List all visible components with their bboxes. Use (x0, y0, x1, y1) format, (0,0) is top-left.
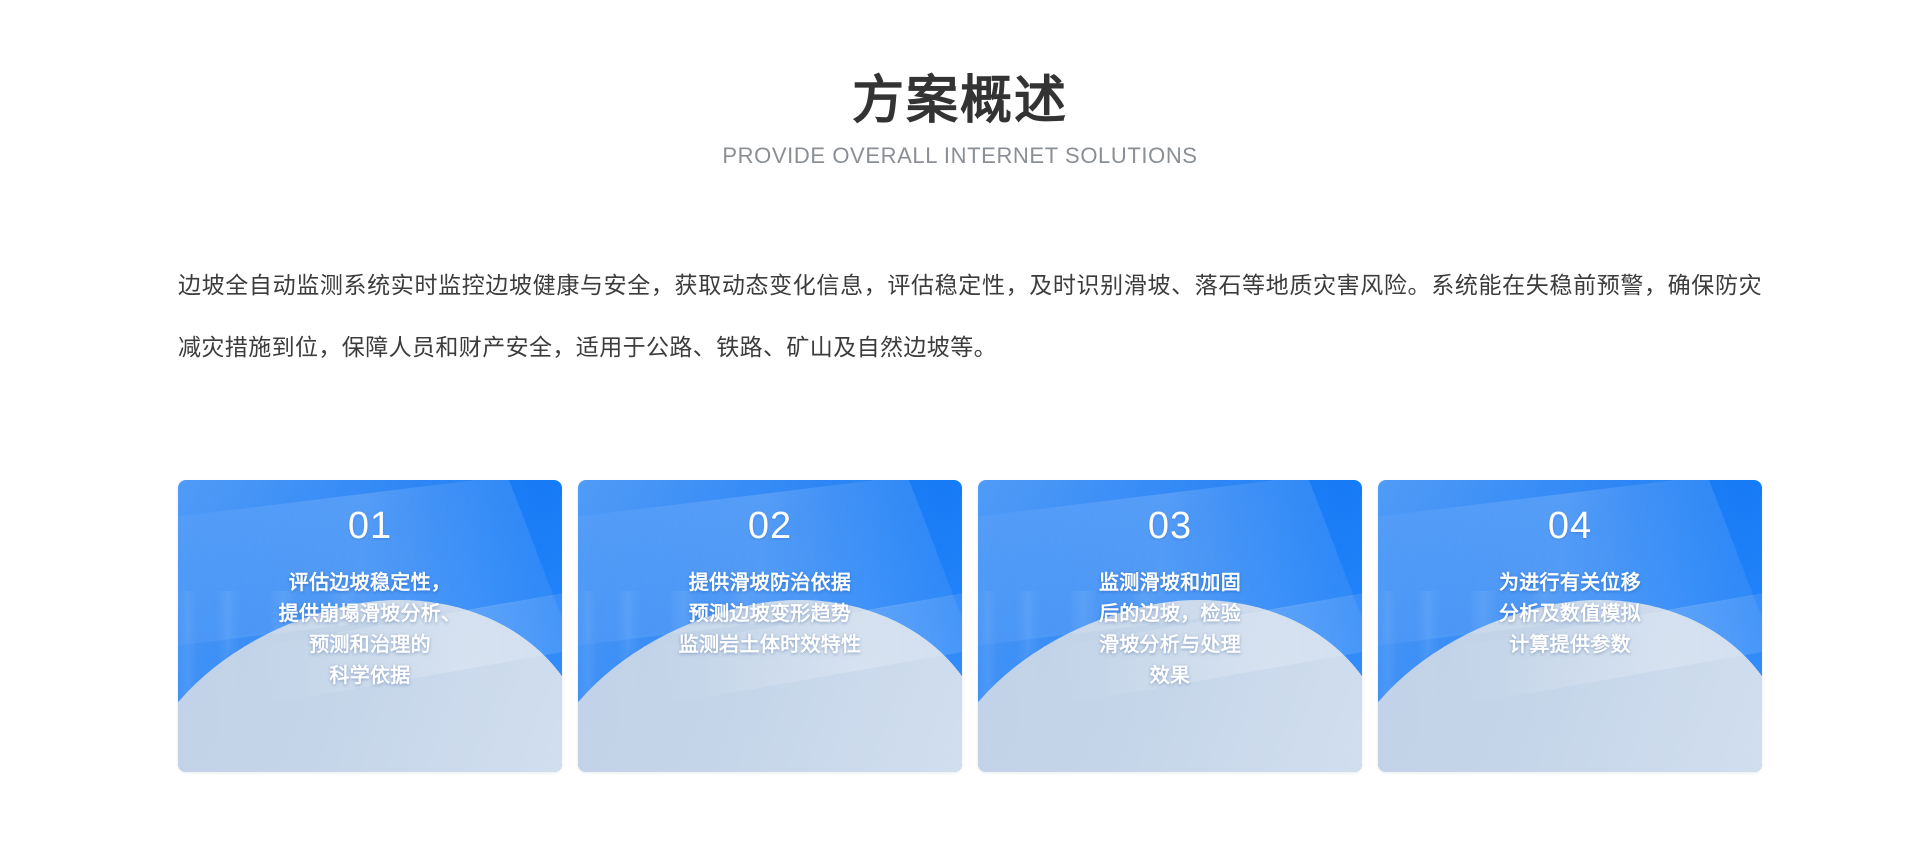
card-description: 监测滑坡和加固 后的边坡，检验 滑坡分析与处理 效果 (1085, 568, 1255, 692)
card-description: 提供滑坡防治依据 预测边坡变形趋势 监测岩土体时效特性 (665, 568, 876, 661)
feature-card[interactable]: 02 提供滑坡防治依据 预测边坡变形趋势 监测岩土体时效特性 (578, 480, 962, 772)
card-number: 04 (1548, 506, 1592, 548)
card-content: 03 监测滑坡和加固 后的边坡，检验 滑坡分析与处理 效果 (978, 480, 1362, 772)
section-header: 方案概述 PROVIDE OVERALL INTERNET SOLUTIONS (0, 72, 1920, 169)
card-number: 01 (348, 506, 392, 548)
page-title: 方案概述 (0, 72, 1920, 130)
feature-card[interactable]: 03 监测滑坡和加固 后的边坡，检验 滑坡分析与处理 效果 (978, 480, 1362, 772)
card-content: 04 为进行有关位移 分析及数值模拟 计算提供参数 (1378, 480, 1762, 772)
card-content: 01 评估边坡稳定性， 提供崩塌滑坡分析、 预测和治理的 科学依据 (178, 480, 562, 772)
card-number: 02 (748, 506, 792, 548)
slide-root: 方案概述 PROVIDE OVERALL INTERNET SOLUTIONS … (0, 0, 1920, 858)
card-content: 02 提供滑坡防治依据 预测边坡变形趋势 监测岩土体时效特性 (578, 480, 962, 772)
feature-card[interactable]: 01 评估边坡稳定性， 提供崩塌滑坡分析、 预测和治理的 科学依据 (178, 480, 562, 772)
card-description: 评估边坡稳定性， 提供崩塌滑坡分析、 预测和治理的 科学依据 (265, 568, 476, 692)
card-description: 为进行有关位移 分析及数值模拟 计算提供参数 (1485, 568, 1655, 661)
page-subtitle: PROVIDE OVERALL INTERNET SOLUTIONS (0, 143, 1920, 169)
feature-card-list: 01 评估边坡稳定性， 提供崩塌滑坡分析、 预测和治理的 科学依据 02 提供滑… (178, 480, 1762, 772)
card-number: 03 (1148, 506, 1192, 548)
feature-card[interactable]: 04 为进行有关位移 分析及数值模拟 计算提供参数 (1378, 480, 1762, 772)
intro-paragraph: 边坡全自动监测系统实时监控边坡健康与安全，获取动态变化信息，评估稳定性，及时识别… (178, 254, 1762, 378)
